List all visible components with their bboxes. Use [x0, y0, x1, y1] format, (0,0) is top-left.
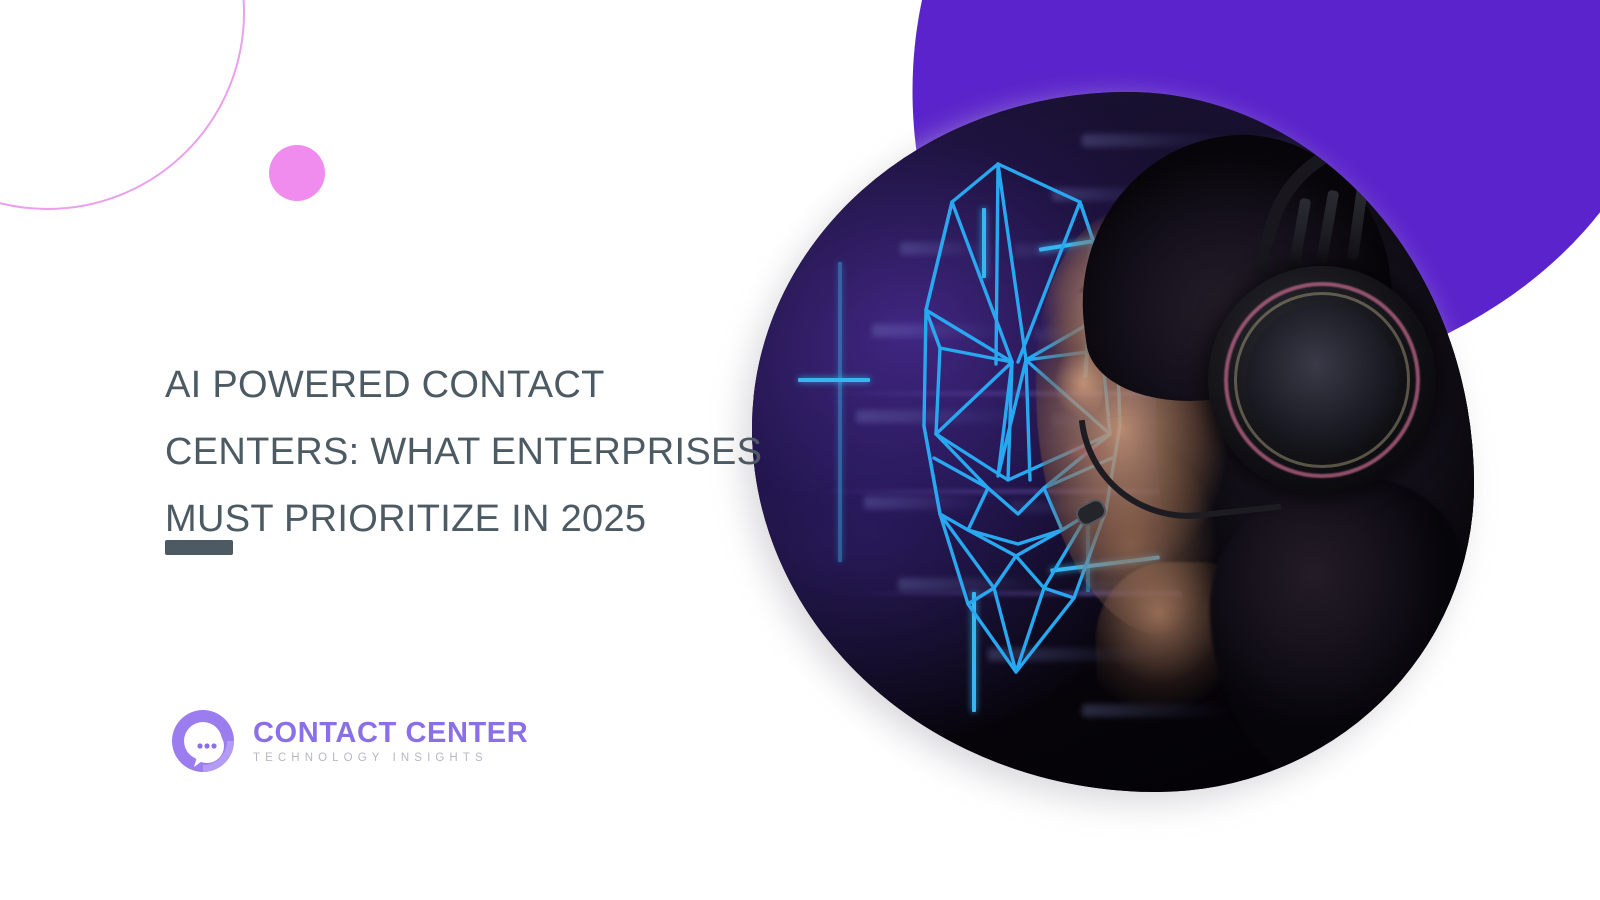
- brand-tagline: TECHNOLOGY INSIGHTS: [253, 752, 528, 764]
- headset-agent-photo: [1022, 110, 1474, 792]
- brand-logo[interactable]: CONTACT CENTER TECHNOLOGY INSIGHTS: [167, 705, 528, 777]
- banner-root: AI POWERED CONTACT CENTERS: WHAT ENTERPR…: [0, 0, 1600, 900]
- circle-outline-decoration: [0, 0, 245, 210]
- circle-dot-decoration: [269, 145, 325, 201]
- speech-bubble-chat-c-icon: [167, 705, 239, 777]
- hero-image-blob: [752, 92, 1474, 792]
- brand-name: CONTACT CENTER: [253, 718, 528, 748]
- brand-logo-text: CONTACT CENTER TECHNOLOGY INSIGHTS: [253, 718, 528, 765]
- page-title: AI POWERED CONTACT CENTERS: WHAT ENTERPR…: [165, 352, 805, 553]
- title-accent-bar: [165, 540, 233, 555]
- hero-image: [752, 92, 1474, 792]
